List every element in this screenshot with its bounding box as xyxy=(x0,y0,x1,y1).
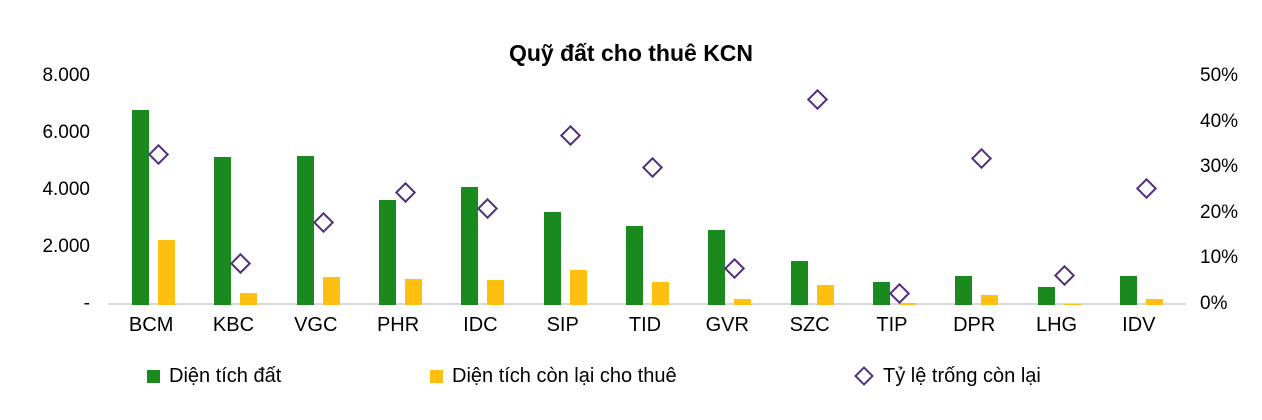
bar-dien-tich-dat[interactable] xyxy=(955,276,972,305)
bar-group xyxy=(439,60,521,305)
bar-dien-tich-dat[interactable] xyxy=(1038,287,1055,305)
marker-ty-le-trong[interactable] xyxy=(395,182,416,203)
chart-container: Quỹ đất cho thuê KCN -2.0004.0006.0008.0… xyxy=(0,0,1262,420)
x-tick-label: SIP xyxy=(522,314,604,337)
bar-dien-tich-dat[interactable] xyxy=(132,110,149,305)
marker-ty-le-trong[interactable] xyxy=(477,198,498,219)
square-swatch-icon xyxy=(147,370,160,383)
x-axis-labels: BCMKBCVGCPHRIDCSIPTIDGVRSZCTIPDPRLHGIDV xyxy=(110,310,1180,344)
bar-group xyxy=(1098,60,1180,305)
marker-ty-le-trong[interactable] xyxy=(313,212,334,233)
chart-legend: Diện tích đấtDiện tích còn lại cho thuêT… xyxy=(110,366,1110,396)
marker-ty-le-trong[interactable] xyxy=(807,89,828,110)
x-tick-label: BCM xyxy=(110,314,192,337)
y-axis-left: -2.0004.0006.0008.000 xyxy=(0,60,100,310)
bar-dien-tich-dat[interactable] xyxy=(708,230,725,305)
x-tick-label: TIP xyxy=(851,314,933,337)
marker-ty-le-trong[interactable] xyxy=(1136,178,1157,199)
bar-dien-tich-con-lai[interactable] xyxy=(240,293,257,305)
bar-group xyxy=(357,60,439,305)
bar-dien-tich-con-lai[interactable] xyxy=(1146,299,1163,305)
x-tick-label: GVR xyxy=(686,314,768,337)
legend-label: Diện tích đất xyxy=(169,366,281,386)
square-swatch-icon xyxy=(430,370,443,383)
y-tick-right: 20% xyxy=(1200,203,1238,222)
marker-ty-le-trong[interactable] xyxy=(560,125,581,146)
bar-dien-tich-dat[interactable] xyxy=(544,212,561,305)
bar-dien-tich-con-lai[interactable] xyxy=(899,303,916,305)
legend-item[interactable]: Diện tích còn lại cho thuê xyxy=(430,366,677,386)
bar-group xyxy=(522,60,604,305)
bar-group xyxy=(686,60,768,305)
y-tick-right: 40% xyxy=(1200,112,1238,131)
bar-group xyxy=(851,60,933,305)
y-tick-right: 30% xyxy=(1200,157,1238,176)
x-tick-label: VGC xyxy=(275,314,357,337)
bar-group xyxy=(192,60,274,305)
bar-group xyxy=(1016,60,1098,305)
marker-ty-le-trong[interactable] xyxy=(971,148,992,169)
bar-dien-tich-con-lai[interactable] xyxy=(817,285,834,305)
diamond-marker-icon xyxy=(854,366,874,386)
x-tick-label: IDV xyxy=(1098,314,1180,337)
legend-label: Diện tích còn lại cho thuê xyxy=(452,366,677,386)
legend-item[interactable]: Tỷ lệ trống còn lại xyxy=(855,366,1041,386)
marker-ty-le-trong[interactable] xyxy=(230,253,251,274)
bar-group xyxy=(604,60,686,305)
legend-item[interactable]: Diện tích đất xyxy=(147,366,281,386)
marker-ty-le-trong[interactable] xyxy=(889,283,910,304)
x-tick-label: TID xyxy=(604,314,686,337)
marker-ty-le-trong[interactable] xyxy=(148,143,169,164)
bar-dien-tich-con-lai[interactable] xyxy=(734,299,751,305)
y-tick-left: - xyxy=(84,294,90,313)
bar-group xyxy=(933,60,1015,305)
legend-label: Tỷ lệ trống còn lại xyxy=(883,366,1041,386)
bar-dien-tich-dat[interactable] xyxy=(626,226,643,305)
x-tick-label: IDC xyxy=(439,314,521,337)
bar-group xyxy=(275,60,357,305)
marker-ty-le-trong[interactable] xyxy=(1053,265,1074,286)
marker-ty-le-trong[interactable] xyxy=(724,257,745,278)
y-tick-right: 10% xyxy=(1200,248,1238,267)
bar-dien-tich-dat[interactable] xyxy=(873,282,890,305)
marker-ty-le-trong[interactable] xyxy=(642,157,663,178)
bar-dien-tich-con-lai[interactable] xyxy=(487,280,504,305)
y-tick-left: 4.000 xyxy=(42,180,90,199)
bar-dien-tich-con-lai[interactable] xyxy=(652,282,669,305)
y-tick-left: 8.000 xyxy=(42,66,90,85)
y-tick-right: 50% xyxy=(1200,66,1238,85)
y-tick-left: 6.000 xyxy=(42,123,90,142)
y-axis-right: 0%10%20%30%40%50% xyxy=(1192,60,1262,310)
x-tick-label: SZC xyxy=(769,314,851,337)
bar-dien-tich-dat[interactable] xyxy=(461,187,478,305)
bar-group xyxy=(769,60,851,305)
y-tick-left: 2.000 xyxy=(42,237,90,256)
x-tick-label: DPR xyxy=(933,314,1015,337)
bar-dien-tich-dat[interactable] xyxy=(214,157,231,305)
bar-dien-tich-con-lai[interactable] xyxy=(323,277,340,305)
y-tick-right: 0% xyxy=(1200,294,1227,313)
x-tick-label: PHR xyxy=(357,314,439,337)
bar-dien-tich-con-lai[interactable] xyxy=(1064,304,1081,305)
bar-dien-tich-dat[interactable] xyxy=(297,156,314,305)
plot-area xyxy=(110,60,1180,305)
bar-dien-tich-con-lai[interactable] xyxy=(158,240,175,305)
bar-dien-tich-con-lai[interactable] xyxy=(981,295,998,305)
x-tick-label: KBC xyxy=(192,314,274,337)
bar-dien-tich-dat[interactable] xyxy=(1120,276,1137,305)
bar-dien-tich-con-lai[interactable] xyxy=(570,270,587,305)
bar-dien-tich-dat[interactable] xyxy=(791,261,808,305)
x-tick-label: LHG xyxy=(1016,314,1098,337)
bar-dien-tich-dat[interactable] xyxy=(379,200,396,305)
bar-dien-tich-con-lai[interactable] xyxy=(405,279,422,305)
bar-group xyxy=(110,60,192,305)
